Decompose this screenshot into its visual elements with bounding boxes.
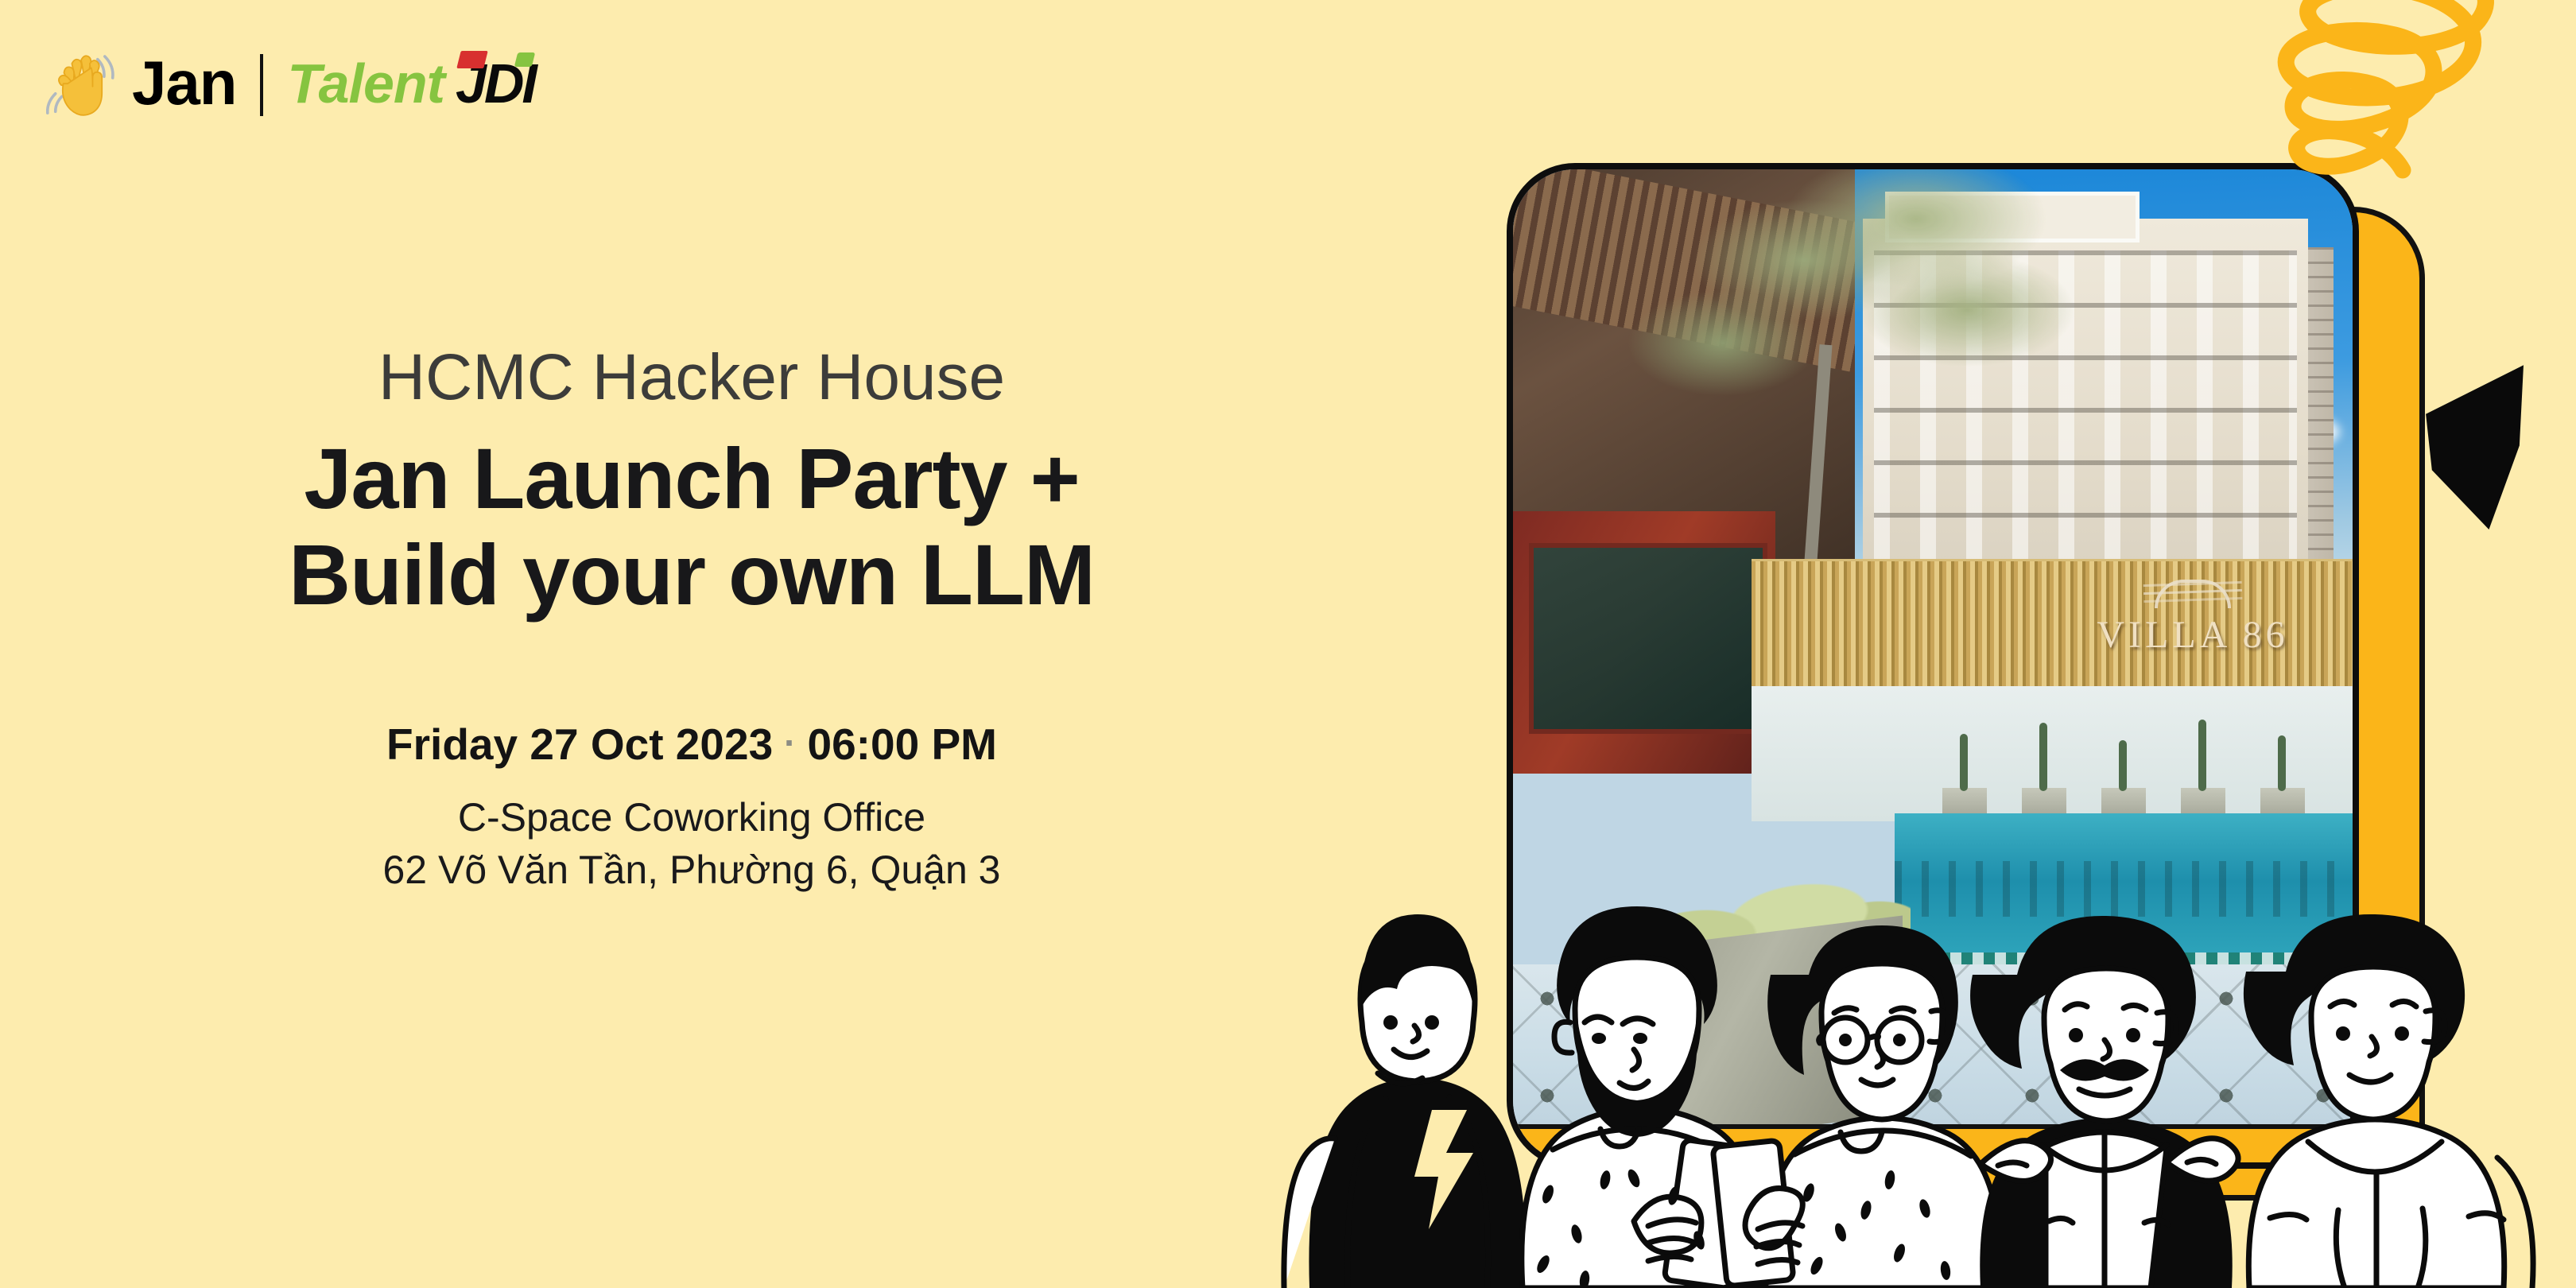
yellow-spiral-scribble-icon: [2194, 0, 2560, 211]
event-headline: Jan Launch Party + Build your own LLM: [0, 431, 1383, 623]
partner-mark-wrap: JDI: [456, 56, 535, 111]
villa-sign-text: VILLA 86: [2062, 613, 2324, 657]
photo-cactus: [2119, 740, 2127, 791]
photo-cactus: [2198, 720, 2206, 791]
people-illustration-row: [1260, 867, 2576, 1288]
headline-line-2: Build your own LLM: [0, 527, 1383, 623]
jdi-red-accent: [456, 51, 487, 68]
photo-tree-canopy: [1600, 169, 2109, 583]
photo-cactus: [2039, 723, 2047, 791]
jdi-green-dot: [514, 52, 535, 67]
person-4: [1970, 916, 2238, 1288]
sunrise-icon: [2155, 580, 2231, 608]
venue-address: 62 Võ Văn Tần, Phường 6, Quận 3: [0, 844, 1383, 896]
person-5: [2244, 914, 2533, 1288]
event-time: 06:00 PM: [808, 720, 997, 769]
event-eyebrow: HCMC Hacker House: [0, 342, 1383, 413]
photo-cactus: [2278, 735, 2286, 791]
black-arrow-icon: [2422, 355, 2524, 530]
event-datetime: Friday 27 Oct 2023·06:00 PM: [0, 717, 1383, 772]
person-1: [1284, 914, 1527, 1288]
brand-name-jan: Jan: [132, 52, 236, 114]
person-3: [1713, 925, 2000, 1288]
event-copy-block: HCMC Hacker House Jan Launch Party + Bui…: [0, 342, 1383, 896]
partner-word-talent: Talent: [287, 56, 444, 111]
headline-line-1: Jan Launch Party +: [0, 431, 1383, 527]
partner-logo-talentjdi: Talent JDI: [287, 56, 534, 111]
brand-separator: [260, 54, 263, 116]
photo-cactus: [1960, 734, 1968, 791]
brand-logo-bar: Jan Talent JDI: [46, 41, 535, 129]
event-meta: Friday 27 Oct 2023·06:00 PM C-Space Cowo…: [0, 717, 1383, 896]
event-date: Friday 27 Oct 2023: [386, 720, 773, 769]
event-location: C-Space Coworking Office 62 Võ Văn Tần, …: [0, 791, 1383, 896]
venue-name: C-Space Coworking Office: [0, 791, 1383, 844]
villa-sign: VILLA 86: [2062, 580, 2324, 657]
meta-separator-dot: ·: [773, 722, 807, 763]
waving-hand-icon: [46, 49, 118, 121]
